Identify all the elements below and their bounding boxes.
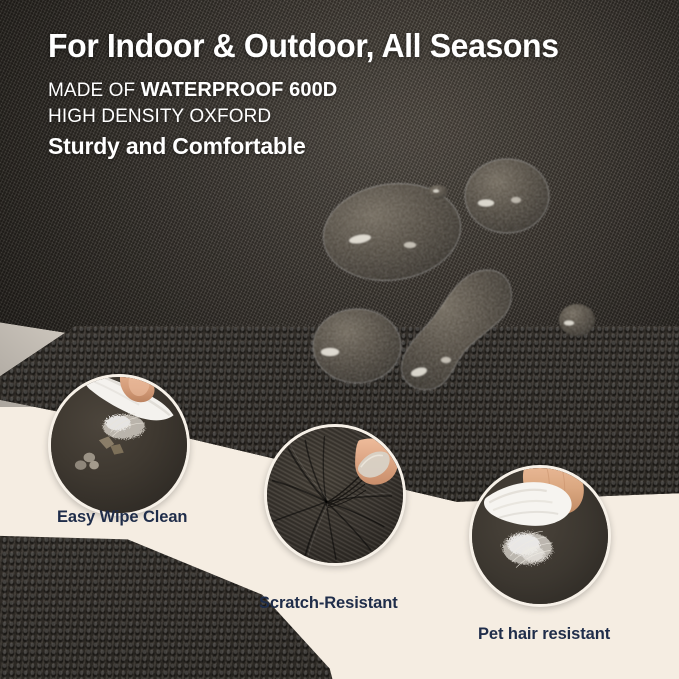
scratch-resistant-illustration	[267, 427, 403, 563]
droplet-tiny-right	[559, 304, 595, 336]
droplet-top-right	[465, 159, 549, 233]
feature-label-scratch-resistant: Scratch-Resistant	[259, 594, 398, 613]
product-infographic: For Indoor & Outdoor, All Seasons MADE O…	[0, 0, 679, 679]
subheadline-line-1-prefix: MADE OF	[48, 80, 141, 101]
droplet-tiny-top	[428, 185, 448, 199]
feature-label-pet-hair-resistant: Pet hair resistant	[478, 625, 610, 644]
headline-block: For Indoor & Outdoor, All Seasons MADE O…	[48, 28, 648, 162]
subheadline-block: MADE OF WATERPROOF 600D HIGH DENSITY OXF…	[48, 77, 648, 162]
feature-image-pet-hair-resistant	[469, 465, 611, 607]
easy-wipe-clean-illustration	[51, 377, 187, 513]
feature-image-scratch-resistant	[264, 424, 406, 566]
feature-image-easy-wipe-clean	[48, 374, 190, 516]
pet-hair-resistant-illustration	[472, 468, 608, 604]
droplet-lower-left	[313, 309, 401, 383]
feature-label-easy-wipe-clean: Easy Wipe Clean	[57, 508, 187, 527]
subheadline-line-1-emphasis: WATERPROOF 600D	[141, 79, 338, 101]
subheadline-line-1: MADE OF WATERPROOF 600D	[48, 77, 648, 104]
page-title: For Indoor & Outdoor, All Seasons	[48, 28, 630, 64]
droplet-elongated	[401, 270, 511, 390]
subheadline-line-3: Sturdy and Comfortable	[48, 131, 648, 162]
subheadline-line-2: HIGH DENSITY OXFORD	[48, 104, 648, 129]
